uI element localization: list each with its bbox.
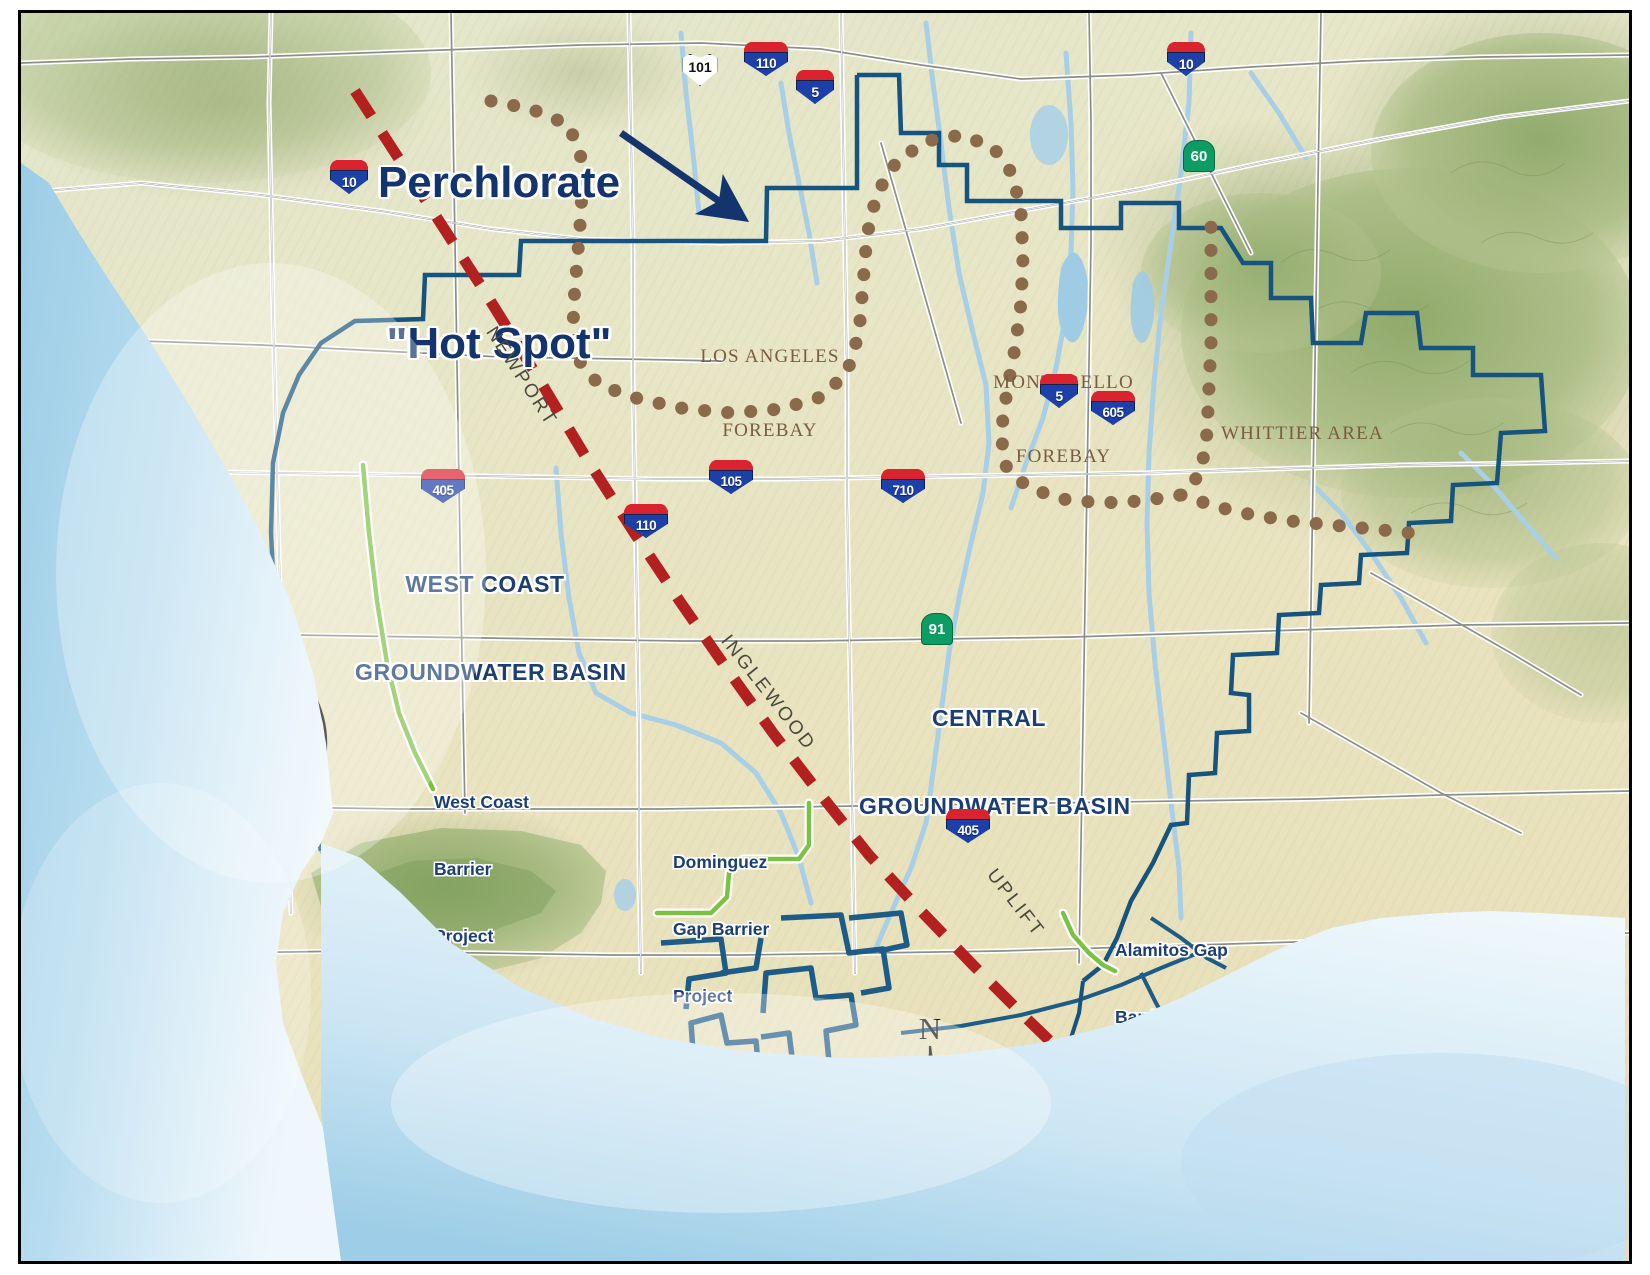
highway-shield-us-101[interactable]: 101: [682, 54, 718, 86]
scale-tick-0: 0: [720, 1152, 731, 1177]
shield-label-i-5-mid: 5: [1040, 385, 1078, 406]
california-inset-map: [117, 633, 329, 855]
shield-label-i-605: 605: [1091, 402, 1135, 423]
scale-seg-2: [778, 1179, 830, 1190]
north-arrow-glyph: [906, 1044, 954, 1149]
highway-shield-i-110-mid[interactable]: 110: [624, 504, 668, 538]
wrd-wave-icon: [61, 1173, 157, 1235]
north-arrow-label: N: [906, 1013, 954, 1044]
shield-label-sr-91: 91: [921, 613, 953, 645]
highway-shield-i-5-mid[interactable]: 5: [1040, 374, 1078, 408]
highway-shield-i-710[interactable]: 710: [881, 469, 925, 503]
shield-label-i-110-mid: 110: [624, 515, 668, 536]
north-arrow: N: [906, 1013, 954, 1154]
scale-bar-segments: [725, 1178, 1145, 1191]
scale-tick-2-5: 2.5: [817, 1152, 843, 1177]
shield-label-i-10-east: 10: [1167, 53, 1205, 74]
shield-label-us-101: 101: [682, 54, 718, 86]
shield-label-sr-22: 22: [1377, 924, 1409, 956]
scale-seg-1: [726, 1179, 778, 1190]
highway-shield-sr-60[interactable]: 60: [1183, 140, 1215, 172]
scale-seg-3: [831, 1179, 936, 1190]
highway-shield-i-105[interactable]: 105: [709, 460, 753, 494]
scale-seg-4: [935, 1179, 1144, 1190]
highway-shield-i-405-north[interactable]: 405: [421, 469, 465, 503]
wrd-logo: WRD WATER REPLENISHMENT DISTRICT: [61, 1161, 361, 1247]
shield-label-i-5-north: 5: [796, 81, 834, 102]
shield-label-i-405-south: 405: [946, 820, 990, 841]
shield-label-i-10-west: 10: [330, 171, 368, 192]
wrd-acronym: WRD: [131, 1161, 361, 1217]
shield-label-i-105: 105: [709, 471, 753, 492]
shield-label-i-710: 710: [881, 480, 925, 501]
scale-bar-ticks: 0 2.5 5 10: [725, 1152, 1145, 1178]
highway-shield-i-10-west[interactable]: 10: [330, 160, 368, 194]
map-root: Perchlorate "Hot Spot" Pacific Ocean WES…: [0, 0, 1650, 1275]
highway-shield-i-10-east[interactable]: 10: [1167, 42, 1205, 76]
scale-bar-units: Miles: [1149, 1174, 1197, 1199]
shield-label-i-405-north: 405: [421, 480, 465, 501]
highway-shield-i-405-south[interactable]: 405: [946, 809, 990, 843]
shield-label-sr-60: 60: [1183, 140, 1215, 172]
shield-label-i-110-north: 110: [744, 53, 788, 74]
highway-shield-i-110-north[interactable]: 110: [744, 42, 788, 76]
scale-tick-5: 5: [930, 1152, 941, 1177]
highway-shield-i-605[interactable]: 605: [1091, 391, 1135, 425]
scale-bar: 0 2.5 5 10 Miles: [725, 1152, 1145, 1191]
highway-shield-sr-91[interactable]: 91: [921, 613, 953, 645]
map-frame: Perchlorate "Hot Spot" Pacific Ocean WES…: [18, 10, 1632, 1264]
highway-shield-sr-22[interactable]: 22: [1377, 924, 1409, 956]
highway-shield-i-5-north[interactable]: 5: [796, 70, 834, 104]
